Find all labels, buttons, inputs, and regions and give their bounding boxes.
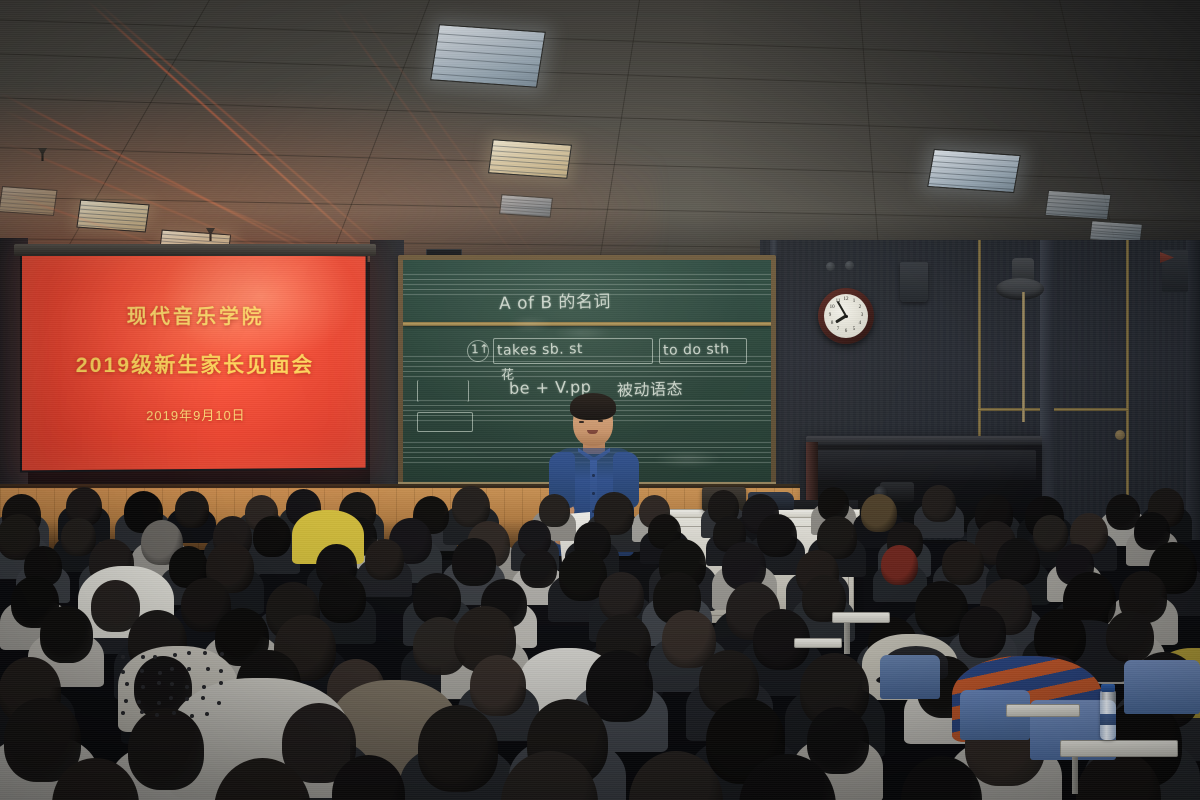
- audience-head: [922, 485, 956, 522]
- wall-clock: 121234567891011: [818, 288, 874, 344]
- tablet-desk-arm: [844, 620, 850, 654]
- slide-title: 现代音乐学院: [127, 300, 265, 329]
- wall-fixture-dot: [826, 262, 835, 271]
- presenter-eye: [598, 420, 603, 422]
- chalk-smudge: [507, 316, 553, 332]
- chalk-numeral: 1↑: [471, 342, 490, 356]
- chalk-text-line-2: takes sb. st: [497, 341, 583, 359]
- piano-lid: [806, 436, 1042, 445]
- chalk-text-todo: to do sth: [663, 341, 730, 358]
- ceiling-light-panel: [488, 139, 572, 179]
- presenter-eye: [579, 421, 584, 423]
- audience-head: [319, 573, 365, 623]
- audience-head: [520, 549, 557, 589]
- clock-numeral: 6: [842, 328, 850, 336]
- folding-tablet-desk[interactable]: [1006, 704, 1080, 717]
- presenter-hair: [570, 393, 616, 420]
- audience-head: [470, 655, 526, 715]
- audience-head: [253, 516, 291, 557]
- ceiling-light-panel: [927, 149, 1021, 193]
- ceiling-light-panel: [76, 200, 149, 233]
- bottle-label: [1100, 714, 1116, 725]
- audience-head: [418, 705, 498, 791]
- chalk-bracket: [417, 380, 469, 402]
- audience-head: [128, 708, 204, 790]
- clock-numeral: 12: [842, 296, 850, 304]
- chalk-text-line-4: 被动语态: [617, 375, 684, 400]
- audience-head: [861, 494, 897, 532]
- auditorium-chair[interactable]: [880, 655, 940, 699]
- chalk-box: [417, 412, 473, 432]
- ceiling-light-panel: [1044, 190, 1111, 220]
- clock-numeral: 2: [856, 304, 864, 312]
- clock-numeral: 3: [858, 312, 866, 320]
- bottle-cap-icon: [1101, 684, 1115, 692]
- audience-head: [942, 541, 984, 586]
- audience: [0, 470, 1200, 800]
- projection-screen: 现代音乐学院 2019级新生家长见面会 2019年9月10日: [20, 252, 368, 473]
- audience-head: [1106, 611, 1154, 663]
- fan-pole: [1022, 292, 1025, 422]
- audience-head: [365, 539, 403, 580]
- projector-screen-housing: [14, 244, 376, 256]
- folding-tablet-desk[interactable]: [794, 638, 842, 648]
- audience-head: [1033, 515, 1068, 552]
- tablet-desk-arm: [1072, 754, 1078, 794]
- chalk-text-line-1: A of B 的名词: [499, 287, 611, 314]
- sensor-dome-icon: [1115, 430, 1125, 440]
- audience-head: [452, 538, 496, 585]
- audience-head: [61, 518, 96, 556]
- wall-speaker: [900, 262, 928, 302]
- audience-head: [40, 606, 93, 663]
- audience-head: [959, 606, 1007, 657]
- fan-blade-housing: [996, 278, 1044, 300]
- clock-numeral: 5: [850, 326, 858, 334]
- folding-tablet-desk[interactable]: [1060, 740, 1178, 757]
- folding-tablet-desk[interactable]: [832, 612, 890, 623]
- ceiling-light-panel: [499, 194, 553, 218]
- audience-head: [175, 491, 209, 527]
- wall-fixture-dot: [845, 261, 854, 270]
- ceiling-light-panel: [430, 24, 546, 88]
- clock-center-pin: [845, 315, 848, 318]
- chalk-smudge: [553, 326, 613, 340]
- clock-face: 121234567891011: [824, 294, 868, 338]
- slide-subtitle: 2019级新生家长见面会: [76, 349, 314, 379]
- ceiling: [0, 0, 1200, 262]
- chalk-smudge: [653, 450, 723, 468]
- audience-head: [757, 514, 796, 556]
- auditorium-chair[interactable]: [1124, 660, 1200, 714]
- slide-date: 2019年9月10日: [146, 405, 245, 424]
- clock-numeral: 9: [826, 312, 834, 320]
- audience-head: [881, 545, 918, 585]
- lecture-hall-photo: 121234567891011 A of B 的名词 1↑ takes sb. …: [0, 0, 1200, 800]
